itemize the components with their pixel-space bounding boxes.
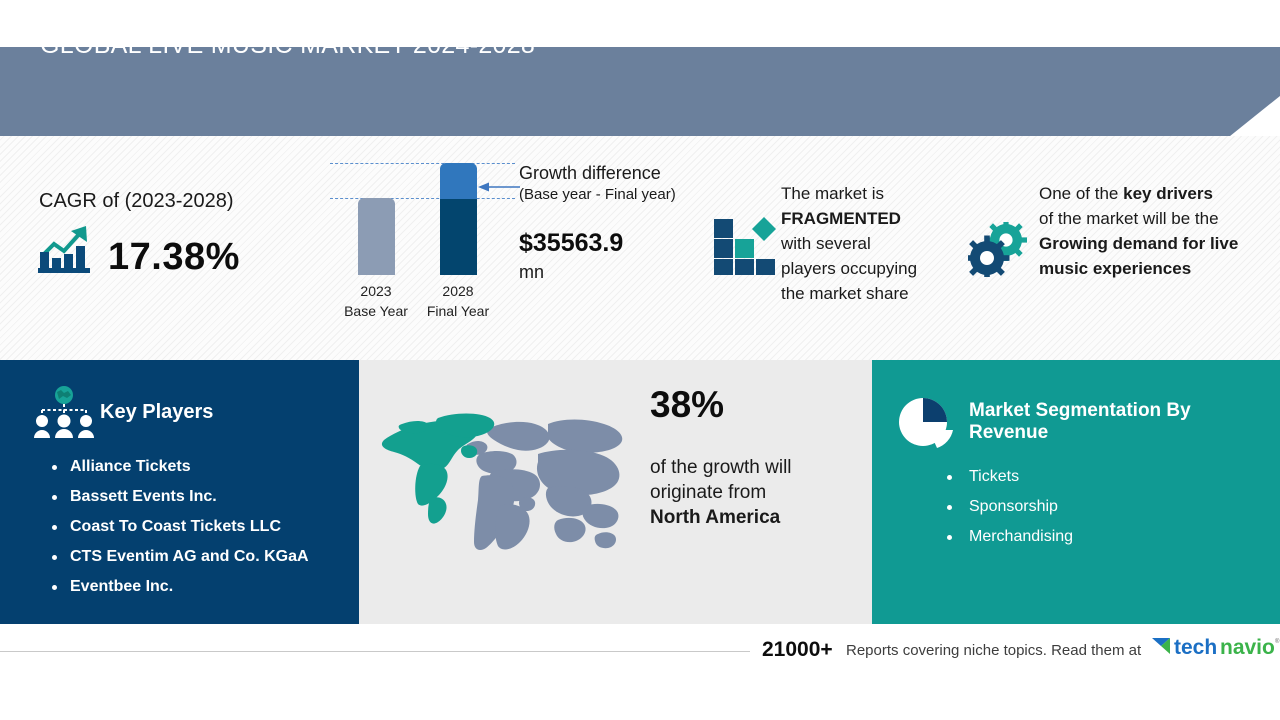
guide-line-top: [330, 163, 515, 164]
header-banner: [0, 47, 1280, 136]
pie-chart-icon: [897, 396, 953, 452]
report-count: 21000+: [762, 638, 833, 662]
key-drivers-text: One of the key drivers of the market wil…: [1039, 181, 1264, 281]
bar-chart-growth-icon: [38, 222, 94, 274]
svg-text:®: ®: [1275, 638, 1280, 645]
cagr-value: 17.38%: [108, 238, 240, 276]
fragmented-emphasis: FRAGMENTED: [781, 209, 901, 228]
gears-icon: [968, 222, 1030, 277]
growth-difference-title: Growth difference: [519, 163, 661, 184]
growth-difference-subtitle: (Base year - Final year): [519, 186, 676, 203]
fragmented-text: The market is FRAGMENTED with several pl…: [781, 181, 956, 306]
bar-label-final-year-sub: Final Year: [413, 301, 503, 321]
growth-difference-unit: mn: [519, 262, 544, 283]
footer-caption: Reports covering niche topics. Read them…: [846, 642, 1141, 659]
segmentation-title: Market Segmentation By Revenue: [969, 400, 1229, 444]
technavio-logo[interactable]: tech navio ®: [1150, 634, 1280, 660]
key-players-title: Key Players: [100, 401, 213, 424]
list-item: Eventbee Inc.: [52, 572, 309, 602]
bar-label-base-year-year: 2023: [331, 281, 421, 301]
footer-divider: [0, 651, 750, 652]
region-text: of the growth will originate from North …: [650, 455, 850, 530]
bar-label-final-year-year: 2028: [413, 281, 503, 301]
list-item: Coast To Coast Tickets LLC: [52, 512, 309, 542]
list-item: Alliance Tickets: [52, 452, 309, 482]
left-arrow-icon: [478, 179, 520, 189]
list-item: Bassett Events Inc.: [52, 482, 309, 512]
fragmented-line4: the market share: [781, 284, 909, 303]
region-line2: originate from: [650, 482, 766, 503]
region-name: North America: [650, 507, 780, 528]
growth-difference-chart: 2023 Base Year 2028 Final Year: [330, 155, 520, 295]
globe-network-people-icon: [34, 386, 94, 438]
bar-label-base-year-sub: Base Year: [331, 301, 421, 321]
segmentation-list: Tickets Sponsorship Merchandising: [947, 462, 1073, 552]
list-item: Merchandising: [947, 522, 1073, 552]
list-item: CTS Eventim AG and Co. KGaA: [52, 542, 309, 572]
guide-line-mid: [330, 198, 515, 199]
fragmented-line3: players occupying: [781, 259, 917, 278]
bar-label-final-year: 2028 Final Year: [413, 281, 503, 322]
drivers-line2: of the market will be the: [1039, 209, 1219, 228]
drivers-bold2: Growing demand for live music experience…: [1039, 234, 1238, 278]
bar-label-base-year: 2023 Base Year: [331, 281, 421, 322]
page-title: GLOBAL LIVE MUSIC MARKET 2024-2028: [40, 31, 535, 60]
bar-final-year-base: [440, 198, 477, 275]
list-item: Sponsorship: [947, 492, 1073, 522]
region-line1: of the growth will: [650, 457, 792, 478]
key-players-list: Alliance Tickets Bassett Events Inc. Coa…: [52, 452, 309, 602]
svg-text:navio: navio: [1220, 636, 1275, 659]
list-item: Tickets: [947, 462, 1073, 492]
bar-base-year: [358, 198, 395, 275]
bar-final-year-growth: [440, 163, 477, 199]
mosaic-squares-icon: [714, 217, 776, 275]
drivers-bold1: key drivers: [1123, 184, 1213, 203]
cagr-label: CAGR of (2023-2028): [39, 190, 234, 213]
fragmented-line2: with several: [781, 234, 871, 253]
growth-difference-amount: $35563.9: [519, 229, 623, 258]
drivers-line1: One of the: [1039, 184, 1123, 203]
region-percent: 38%: [650, 386, 724, 423]
fragmented-line1: The market is: [781, 184, 884, 203]
infographic-canvas: GLOBAL LIVE MUSIC MARKET 2024-2028 CAGR …: [0, 0, 1280, 720]
world-map-icon: [372, 410, 634, 570]
svg-text:tech: tech: [1174, 636, 1217, 659]
